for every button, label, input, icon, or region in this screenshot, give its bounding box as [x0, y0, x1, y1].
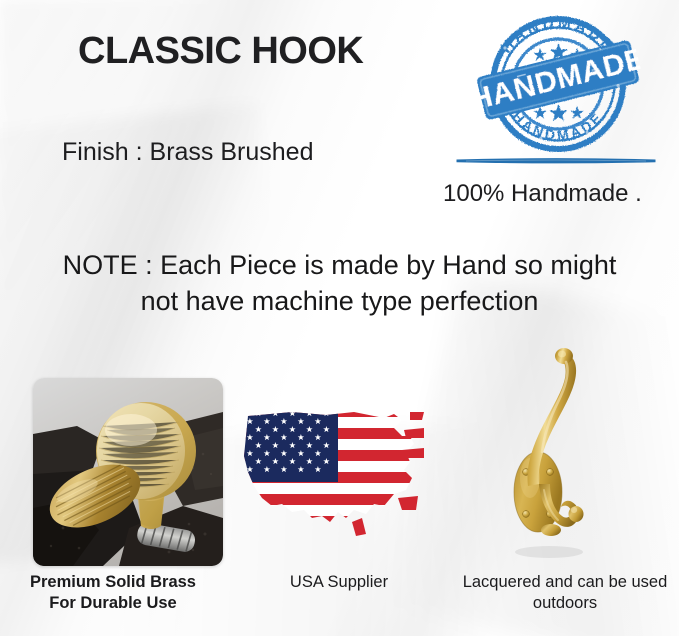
- handmade-stamp-icon: HANDMADE HANDMADE: [475, 8, 641, 156]
- finish-label: Finish : Brass Brushed: [62, 138, 314, 167]
- note-text: NOTE : Each Piece is made by Hand so mig…: [0, 248, 679, 320]
- note-line-2: not have machine type perfection: [14, 284, 665, 320]
- feature-panel-usa-supplier: USA Supplier: [226, 340, 452, 636]
- panel-caption-line-2: outdoors: [454, 593, 676, 614]
- panel-caption-line-1: Premium Solid Brass: [30, 573, 196, 591]
- panel-caption: Lacquered and can be used outdoors: [454, 572, 676, 614]
- feature-panel-premium-solid-brass: Premium Solid Brass For Durable Use: [0, 340, 226, 636]
- panel-media: [452, 340, 678, 570]
- stamp-underline-rule: [456, 158, 656, 165]
- feature-panels: Premium Solid Brass For Durable Use: [0, 340, 679, 636]
- brass-knob-photo: [33, 378, 223, 566]
- panel-caption: Premium Solid Brass For Durable Use: [2, 572, 224, 614]
- feature-panel-lacquered-outdoors: Lacquered and can be used outdoors: [452, 340, 678, 636]
- panel-caption-line-1: USA Supplier: [290, 573, 388, 591]
- handmade-percentage-label: 100% Handmade .: [443, 180, 642, 208]
- panel-media: [226, 340, 452, 570]
- panel-media: [0, 340, 226, 570]
- panel-caption-line-1: Lacquered and can be used: [463, 573, 668, 591]
- page-title: CLASSIC HOOK: [78, 30, 363, 73]
- brass-coat-hook-icon: [494, 344, 604, 562]
- note-line-1: NOTE : Each Piece is made by Hand so mig…: [63, 250, 617, 280]
- panel-caption-line-2: For Durable Use: [2, 593, 224, 614]
- product-infographic: CLASSIC HOOK Finish : Brass Brushed: [0, 0, 679, 636]
- panel-caption: USA Supplier: [228, 572, 450, 593]
- usa-flag-map-icon: [234, 406, 426, 546]
